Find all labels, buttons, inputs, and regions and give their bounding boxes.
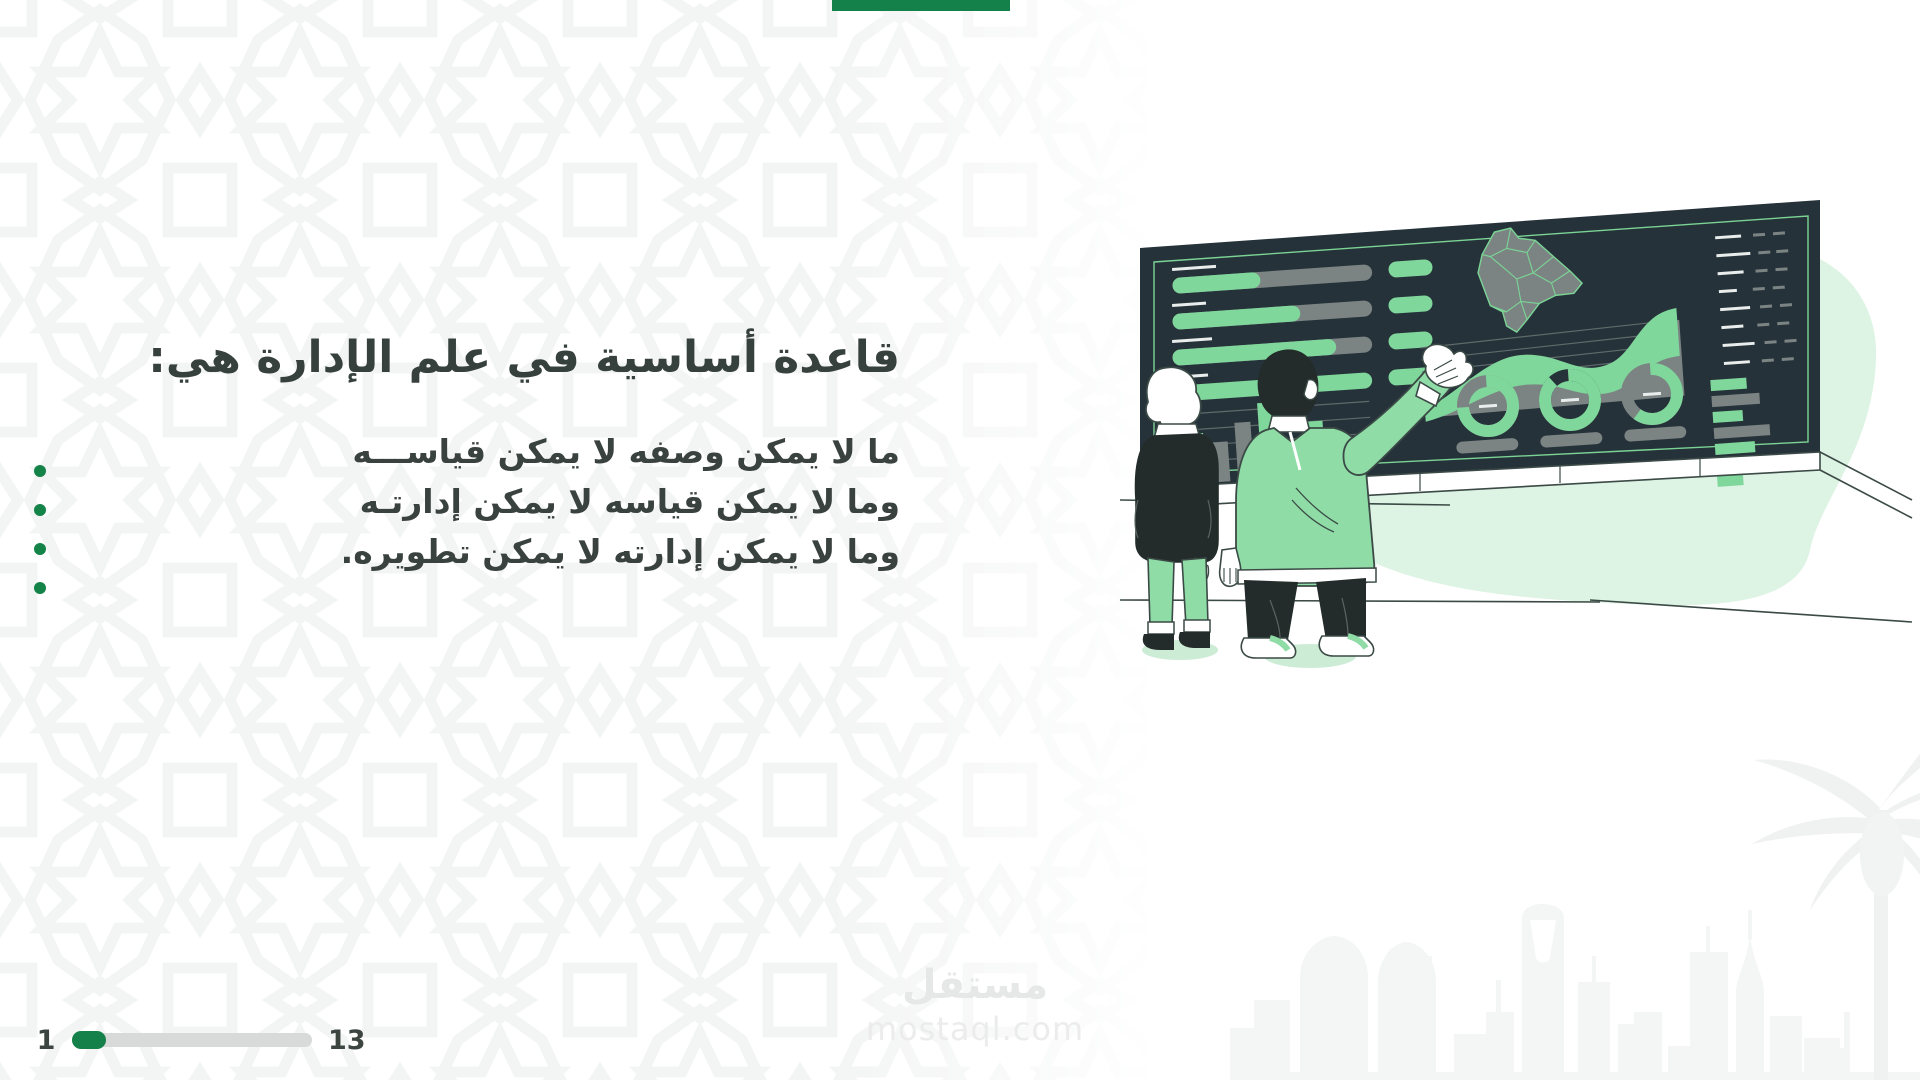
body-line: وما لا يمكن إدارته لا يمكن تطويره. <box>0 527 900 577</box>
body-line: وما لا يمكن قياسه لا يمكن إدارتـه <box>0 477 900 527</box>
mostaql-watermark: مستقل mostaql.com <box>845 950 1105 1060</box>
palm-tree-silhouette <box>1752 754 1920 1080</box>
progress-knob[interactable] <box>72 1031 106 1049</box>
body-line: ما لا يمكن وصفه لا يمكن قياســـه <box>0 427 900 477</box>
current-page-number: 1 <box>36 1025 56 1056</box>
watermark-domain: mostaql.com <box>866 1010 1084 1048</box>
watermark-arabic: مستقل <box>902 962 1048 1008</box>
top-accent-bar <box>832 0 1010 11</box>
total-page-number: 13 <box>328 1025 366 1056</box>
body-text-block: ما لا يمكن وصفه لا يمكن قياســـه وما لا … <box>0 427 960 577</box>
skyline-buildings <box>1230 904 1920 1080</box>
page-title: قاعدة أساسية في علم الإدارة هي: <box>0 330 960 385</box>
progress-track[interactable] <box>72 1033 312 1047</box>
bullet-dot <box>34 582 46 594</box>
slide-progress-footer: 1 13 <box>0 1000 500 1080</box>
riyadh-skyline-silhouette <box>1230 750 1920 1080</box>
slide-text-column: قاعدة أساسية في علم الإدارة هي: ما لا يم… <box>0 330 960 577</box>
analytics-dashboard-illustration <box>1120 170 1920 690</box>
slide-root: قاعدة أساسية في علم الإدارة هي: ما لا يم… <box>0 0 1920 1080</box>
dashboard-screen <box>1140 200 1820 488</box>
